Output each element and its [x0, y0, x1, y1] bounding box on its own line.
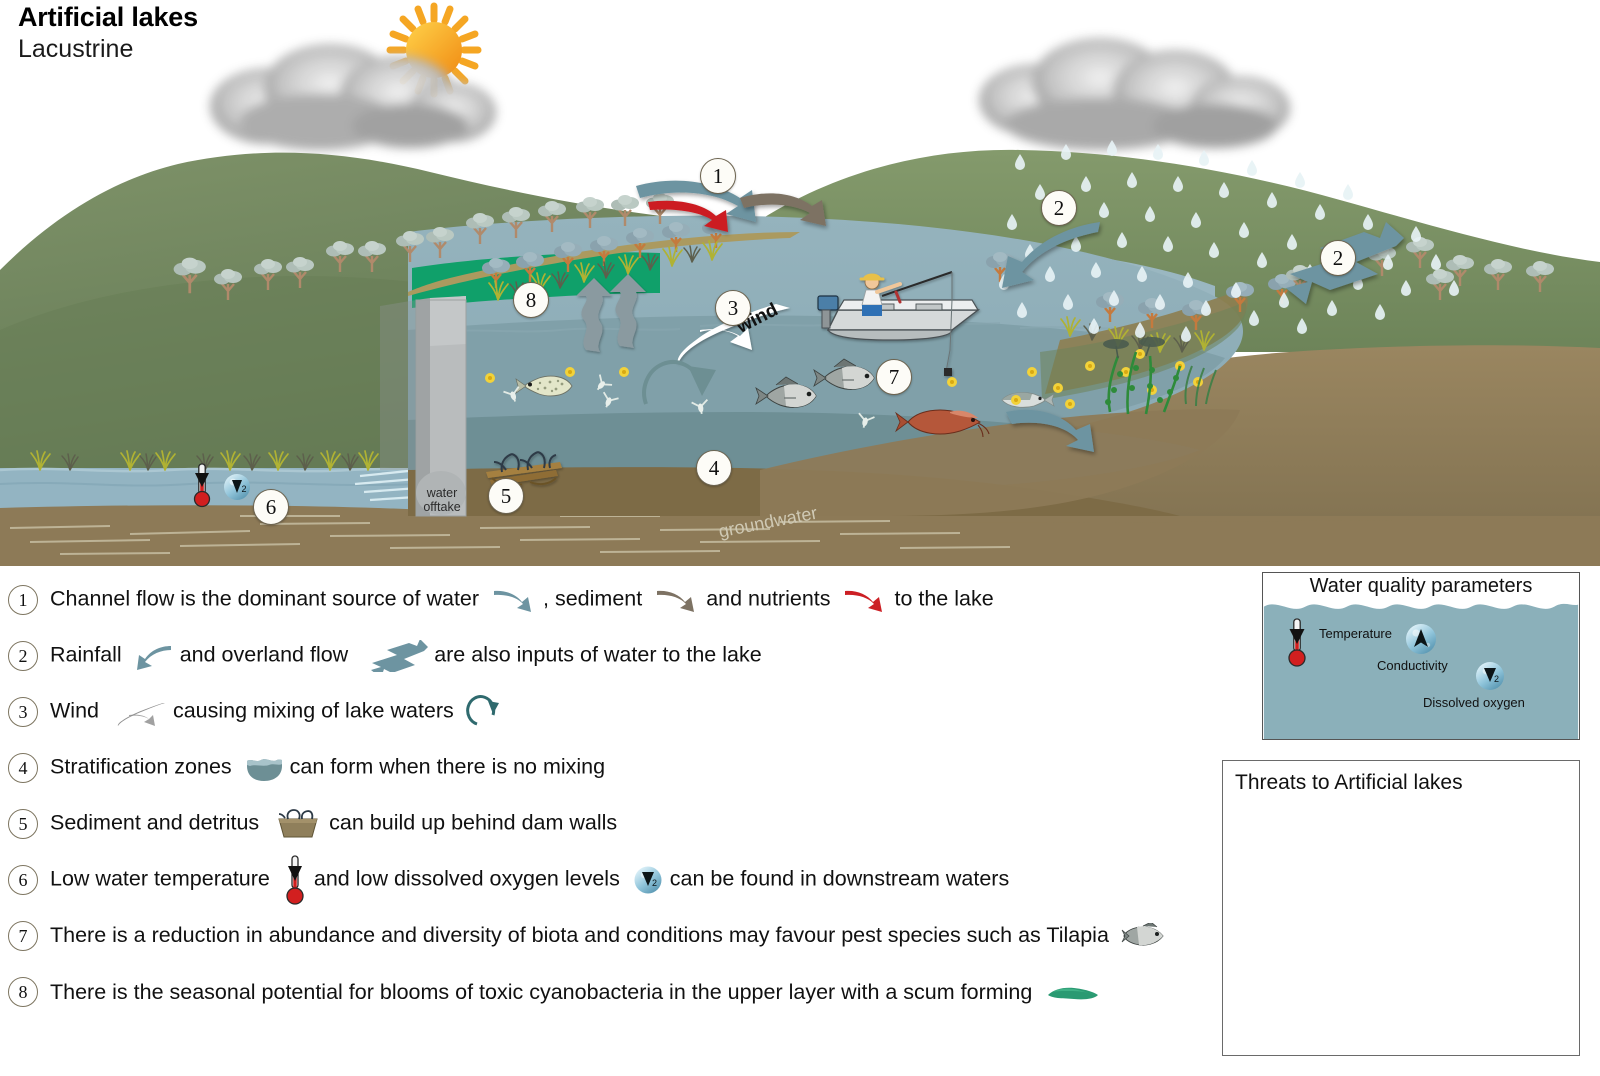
legend-row-2: 2Rainfall and overland flow are also inp…	[0, 628, 1200, 684]
stratification-zone-icon	[244, 754, 284, 782]
wq-label-dissolved-oxygen: Dissolved oxygen	[1423, 695, 1525, 710]
thermometer-icon	[1283, 615, 1317, 677]
scene-marker-8: 8	[513, 282, 549, 318]
scene-marker-2: 2	[1320, 240, 1356, 276]
legend-number-7: 7	[8, 921, 38, 951]
scene-marker-6: 6	[253, 489, 289, 525]
wq-label-temperature: Temperature	[1319, 626, 1392, 641]
overland-flow-arrow-icon	[360, 640, 428, 672]
svg-text:2: 2	[652, 878, 657, 888]
legend-list: 1Channel flow is the dominant source of …	[0, 572, 1200, 1020]
legend-text-part: are also inputs of water to the lake	[434, 643, 761, 667]
rainfall-arrow-icon	[134, 641, 174, 671]
nutrient-arrow-icon	[842, 585, 888, 615]
wq-panel-title: Water quality parameters	[1263, 575, 1579, 598]
legend-number-8: 8	[8, 977, 38, 1007]
water-quality-panel: Water quality parameters Temperature Con…	[1262, 572, 1580, 740]
legend-number-5: 5	[8, 809, 38, 839]
scene-marker-1: 1	[700, 158, 736, 194]
legend-row-3: 3Wind causing mixing of lake waters	[0, 684, 1200, 740]
dissolved-oxygen-downstream-icon	[224, 474, 250, 500]
legend-text-part: and overland flow	[180, 643, 355, 667]
legend-text-part: , sediment	[543, 587, 648, 611]
legend-text-6: Low water temperature and low dissolved …	[50, 854, 1009, 906]
wind-streak-icon	[111, 698, 167, 726]
legend-row-7: 7There is a reduction in abundance and d…	[0, 908, 1200, 964]
legend-number-1: 1	[8, 585, 38, 615]
legend-text-8: There is the seasonal potential for bloo…	[50, 980, 1106, 1005]
mixing-circle-arrow-icon	[466, 693, 504, 731]
water-offtake-tower	[416, 296, 466, 516]
legend-text-part: causing mixing of lake waters	[173, 699, 460, 723]
scene-marker-3: 3	[715, 290, 751, 326]
legend-row-6: 6Low water temperature and low dissolved…	[0, 852, 1200, 908]
legend-text-part: and low dissolved oxygen levels	[314, 867, 626, 891]
scene-marker-2: 2	[1041, 190, 1077, 226]
threats-panel-title: Threats to Artificial lakes	[1235, 771, 1463, 795]
dissolved-oxygen-bubble-icon: 2	[1473, 659, 1507, 693]
legend-text-part: Wind	[50, 699, 105, 723]
water-offtake-label: water offtake	[416, 486, 468, 515]
legend-number-3: 3	[8, 697, 38, 727]
title-main: Artificial lakes	[18, 2, 198, 33]
legend-text-part: and nutrients	[706, 587, 836, 611]
legend-text-4: Stratification zones can form when there…	[50, 754, 605, 782]
wq-label-conductivity: Conductivity	[1377, 658, 1448, 673]
legend-row-4: 4Stratification zones can form when ther…	[0, 740, 1200, 796]
lake-scene-illustration: 2	[0, 0, 1600, 566]
legend-text-5: Sediment and detritus can build up behin…	[50, 809, 617, 839]
legend-text-part: There is the seasonal potential for bloo…	[50, 980, 1038, 1004]
legend-row-1: 1Channel flow is the dominant source of …	[0, 572, 1200, 628]
water-flow-arrow-icon	[491, 585, 537, 615]
title-subtitle: Lacustrine	[18, 34, 198, 64]
legend-text-part: can be found in downstream waters	[670, 867, 1009, 891]
legend-text-1: Channel flow is the dominant source of w…	[50, 585, 994, 615]
legend-text-3: Wind causing mixing of lake waters	[50, 693, 510, 731]
legend-row-8: 8There is the seasonal potential for blo…	[0, 964, 1200, 1020]
legend-text-part: Stratification zones	[50, 755, 238, 779]
legend-text-part: Low water temperature	[50, 867, 276, 891]
dissolved-oxygen-icon: 2	[632, 864, 664, 896]
legend-number-6: 6	[8, 865, 38, 895]
legend-text-part: can build up behind dam walls	[329, 811, 617, 835]
threats-panel: Threats to Artificial lakes	[1222, 760, 1580, 1056]
legend-text-part: Sediment and detritus	[50, 811, 265, 835]
legend-text-part: to the lake	[894, 587, 993, 611]
legend-number-4: 4	[8, 753, 38, 783]
conductivity-bubble-icon	[1403, 621, 1439, 657]
scene-marker-5: 5	[488, 478, 524, 514]
scene-marker-7: 7	[876, 359, 912, 395]
legend-text-part: There is a reduction in abundance and di…	[50, 923, 1115, 947]
page-title: Artificial lakes Lacustrine	[18, 2, 198, 64]
svg-text:2: 2	[1494, 674, 1499, 684]
thermometer-icon	[282, 854, 308, 906]
legend-number-2: 2	[8, 641, 38, 671]
legend-text-7: There is a reduction in abundance and di…	[50, 923, 1171, 949]
legend-row-5: 5Sediment and detritus can build up behi…	[0, 796, 1200, 852]
legend-text-2: Rainfall and overland flow are also inpu…	[50, 640, 762, 672]
sediment-arrow-icon	[654, 585, 700, 615]
tilapia-fish-icon	[1121, 923, 1165, 949]
scene-marker-4: 4	[696, 450, 732, 486]
detritus-icon	[271, 809, 323, 839]
legend-text-part: can form when there is no mixing	[290, 755, 605, 779]
legend-text-part: Rainfall	[50, 643, 128, 667]
legend-text-part: Channel flow is the dominant source of w…	[50, 587, 485, 611]
cyanobacteria-scum-icon	[1044, 983, 1100, 1003]
